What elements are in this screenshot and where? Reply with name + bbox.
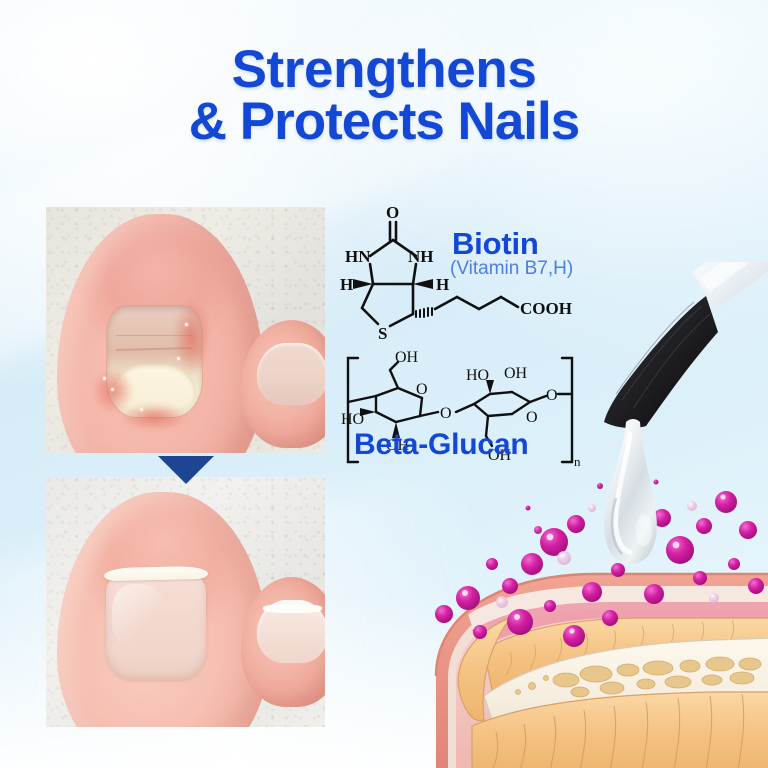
atom-label-H: H	[340, 275, 353, 294]
skin-flake	[103, 377, 106, 380]
skin-flake	[177, 357, 180, 360]
inflammation-patch	[119, 403, 189, 432]
healthy-nail	[106, 576, 206, 680]
atom-label-ring-O: O	[416, 381, 428, 398]
wedge-bond	[413, 279, 433, 289]
atom-label-HO: HO	[466, 367, 489, 384]
serum-droplet	[604, 419, 657, 564]
atom-label-NH: NH	[408, 247, 434, 266]
before-small-toe-nail	[257, 343, 325, 404]
beta-glucan-label: Beta-Glucan	[354, 428, 529, 462]
headline-line-1: Strengthens	[232, 40, 537, 99]
poster-canvas: Strengthens & Protects Nails	[0, 0, 768, 768]
atom-label-S: S	[378, 324, 387, 343]
brush-bristles	[604, 296, 718, 428]
atom-label-O: O	[386, 203, 399, 222]
headline: Strengthens & Protects Nails	[0, 44, 768, 149]
headline-line-2: & Protects Nails	[0, 96, 768, 148]
atom-label-HN: HN	[345, 247, 371, 266]
nail-polish-brush	[560, 262, 768, 592]
atom-label-ring-O: O	[526, 409, 538, 426]
arrow-down-icon	[158, 456, 214, 484]
atom-label-O: O	[546, 387, 558, 404]
atom-label-HO: HO	[341, 411, 364, 428]
nail-white-tip	[104, 566, 208, 582]
after-small-toe-nail	[257, 600, 325, 662]
inflammation-patch	[173, 300, 210, 374]
atom-label-OH: OH	[504, 365, 528, 382]
biotin-sublabel: (Vitamin B7,H)	[450, 258, 573, 280]
biotin-label: Biotin	[452, 226, 539, 262]
atom-label-OH: OH	[395, 350, 419, 366]
ingredient-structures: O HN NH H H S COOH Biotin (Vitamin B7,H)	[340, 196, 590, 480]
after-photo	[46, 477, 325, 727]
atom-label-glycosidic-O: O	[440, 405, 452, 422]
skin-flake	[185, 323, 188, 326]
before-after-arrow	[158, 456, 214, 484]
atom-label-H: H	[436, 275, 449, 294]
before-photo	[46, 207, 325, 453]
nail-gloss-highlight	[112, 584, 164, 648]
